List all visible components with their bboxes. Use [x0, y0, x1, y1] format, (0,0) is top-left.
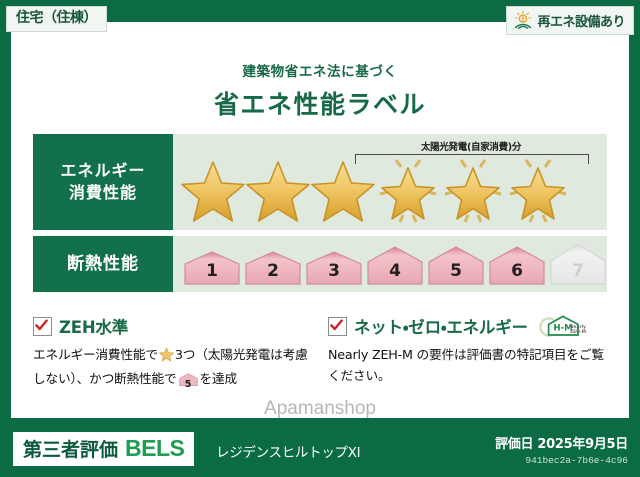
- energy-performance-row: エネルギー 消費性能 太陽光発電(自家消費)分: [33, 134, 607, 230]
- bels-prefix-label: 第三者評価: [23, 435, 118, 462]
- grade-house-1: 1: [183, 248, 241, 286]
- solar-bracket-label: 太陽光発電(自家消費)分: [351, 139, 591, 153]
- bels-mark-label: BELS: [125, 435, 184, 462]
- title-main: 省エネ性能ラベル: [11, 85, 629, 121]
- star-solar: [376, 154, 440, 226]
- inline-grade-value: 5: [179, 377, 198, 392]
- title-subtitle: 建築物省エネ法に基づく: [11, 60, 629, 80]
- grade-house-7: 7: [549, 242, 607, 286]
- zeh-text-part3: を達成: [200, 371, 237, 386]
- grade-house-5-value: 5: [427, 261, 485, 281]
- property-name: レジデンスヒルトップXI: [216, 441, 360, 461]
- grade-house-7-value: 7: [549, 261, 607, 281]
- net-zero-energy-block: ネット・ゼロ・エネルギー H-M Nearly ZEH-M Nearly ZEH…: [328, 314, 609, 393]
- solar-sun-icon: [513, 10, 533, 30]
- star-solid: [246, 154, 310, 226]
- star-solid: [311, 154, 375, 226]
- inline-star-icon: [159, 347, 174, 369]
- zeh-standard-description: エネルギー消費性能で3つ（太陽光発電は考慮しない）、かつ断熱性能で5を達成: [33, 345, 314, 393]
- net-zero-description: Nearly ZEH-M の要件は評価書の特記項目をご覧ください。: [328, 345, 609, 386]
- energy-performance-label: 住宅（住棟） 再エネ設備あり: [0, 0, 640, 477]
- insulation-label: 断熱性能: [67, 253, 139, 276]
- energy-stars-area: 太陽光発電(自家消費)分: [173, 134, 607, 230]
- zeh-standard-header: ZEH水準: [33, 314, 314, 338]
- performance-rows: エネルギー 消費性能 太陽光発電(自家消費)分: [33, 134, 607, 298]
- label-title: 建築物省エネ法に基づく 省エネ性能ラベル: [11, 60, 629, 121]
- renewable-tag-label: 再エネ設備あり: [537, 11, 625, 30]
- certification-info: ZEH水準 エネルギー消費性能で3つ（太陽光発電は考慮しない）、かつ断熱性能で5…: [33, 314, 609, 393]
- building-type-tag: 住宅（住棟）: [6, 6, 107, 32]
- grade-house-6-value: 6: [488, 261, 546, 281]
- zeh-star-count-text: 3つ（太陽光発電: [175, 347, 270, 362]
- grade-house-2: 2: [244, 248, 302, 286]
- net-zero-header: ネット・ゼロ・エネルギー H-M Nearly ZEH-M: [328, 314, 609, 338]
- grade-house-5: 5: [427, 244, 485, 286]
- grade-house-3-value: 3: [305, 261, 363, 281]
- star-solar: [441, 154, 505, 226]
- insulation-performance-label-cell: 断熱性能: [33, 236, 173, 292]
- star-solar: [506, 154, 570, 226]
- bels-badge: 第三者評価 BELS: [8, 432, 194, 466]
- grade-house-4-value: 4: [366, 261, 424, 281]
- evaluation-date: 評価日 2025年9月5日: [495, 433, 628, 452]
- evaluation-info: 評価日 2025年9月5日 941bec2a-7b6e-4c96: [495, 433, 628, 466]
- energy-label-line2: 消費性能: [69, 182, 137, 204]
- label-footer: 第三者評価 BELS レジデンスヒルトップXI 評価日 2025年9月5日 94…: [0, 423, 640, 477]
- grade-house-4: 4: [366, 244, 424, 286]
- grade-house-2-value: 2: [244, 261, 302, 281]
- renewable-equipment-badge: 再エネ設備あり: [506, 6, 634, 35]
- building-type-tag-label: 住宅（住棟）: [16, 10, 97, 26]
- zeh-text-part1: エネルギー消費性能で: [33, 347, 158, 362]
- grade-house-3: 3: [305, 248, 363, 286]
- energy-label-line1: エネルギー: [60, 160, 145, 182]
- grade-house-6: 6: [488, 244, 546, 286]
- zeh-checkbox-checked-icon: [33, 317, 52, 336]
- insulation-grades-area: 1 2 3: [173, 236, 607, 292]
- label-card: 建築物省エネ法に基づく 省エネ性能ラベル エネルギー 消費性能 太陽光発電(自家…: [11, 22, 629, 418]
- evaluation-id: 941bec2a-7b6e-4c96: [495, 455, 628, 466]
- zeh-standard-title: ZEH水準: [59, 314, 128, 338]
- star-solid: [181, 154, 245, 226]
- zeh-m-logo: H-M Nearly ZEH-M: [539, 314, 589, 338]
- insulation-grade-scale: 1 2 3: [179, 242, 607, 286]
- netzero-checkbox-checked-icon: [328, 317, 347, 336]
- zeh-m-logo-sub2: ZEH-M: [570, 329, 586, 335]
- star-rating: [177, 154, 570, 226]
- insulation-performance-row: 断熱性能: [33, 236, 607, 292]
- grade-house-1-value: 1: [183, 261, 241, 281]
- net-zero-title: ネット・ゼロ・エネルギー: [354, 314, 528, 338]
- zeh-standard-block: ZEH水準 エネルギー消費性能で3つ（太陽光発電は考慮しない）、かつ断熱性能で5…: [33, 314, 314, 393]
- energy-performance-label-cell: エネルギー 消費性能: [33, 134, 173, 230]
- inline-grade-house-icon: 5: [179, 372, 198, 394]
